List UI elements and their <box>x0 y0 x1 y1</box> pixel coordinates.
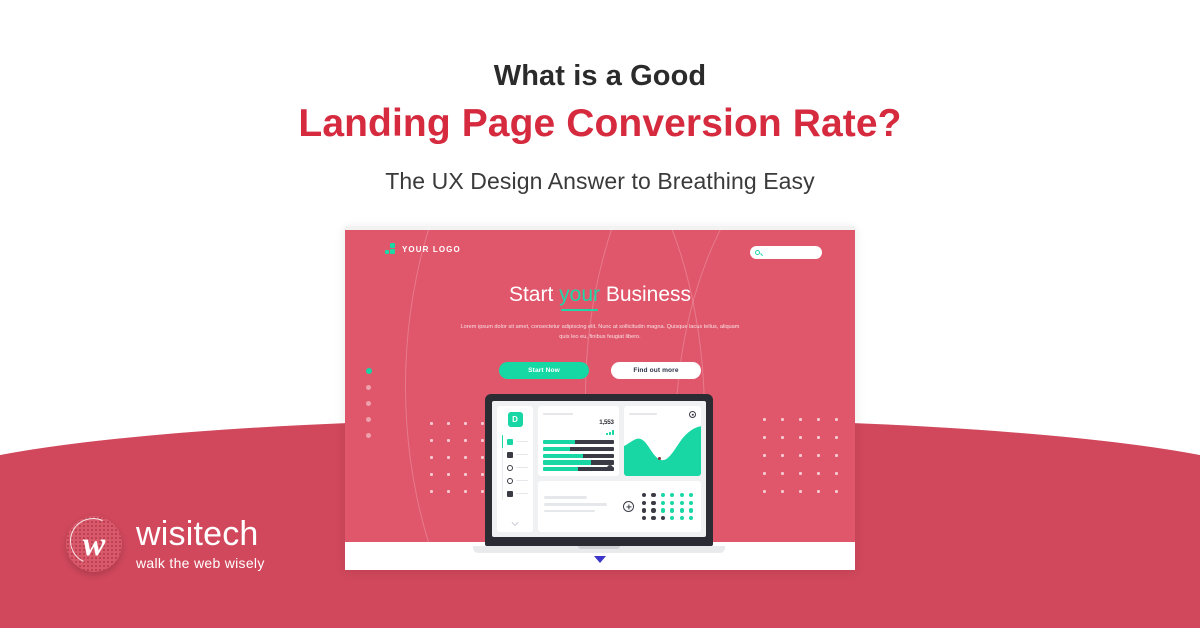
hero-title-post: Business <box>600 283 691 306</box>
mockup-pager-dots[interactable] <box>366 368 372 438</box>
gear-icon <box>507 478 513 484</box>
pager-dot-1[interactable] <box>366 368 372 374</box>
brand-logo[interactable]: w wisitech walk the web wisely <box>66 516 265 572</box>
find-out-more-button[interactable]: Find out more <box>611 362 701 379</box>
dashboard-menu-item-2[interactable] <box>504 448 528 461</box>
dot-icon[interactable] <box>607 465 613 471</box>
pager-dot-4[interactable] <box>366 417 371 422</box>
horizontal-bar-chart <box>543 440 614 471</box>
bar-row <box>543 460 614 464</box>
bar-row <box>543 467 614 471</box>
circle-icon <box>507 465 513 471</box>
mockup-cta-group: Start Now Find out more <box>345 362 855 379</box>
metric-value: 1,553 <box>599 419 613 426</box>
mockup-logo[interactable]: YOUR LOGO <box>385 243 461 255</box>
dashboard-menu-item-4[interactable] <box>504 474 528 487</box>
metric-block: 1,553 <box>599 411 613 435</box>
pager-dot-3[interactable] <box>366 401 371 406</box>
brand-mark-letter: w <box>83 528 106 562</box>
bar-up-icon <box>599 430 613 435</box>
laptop-mockup: D <box>485 394 713 546</box>
text-line-placeholder <box>544 510 595 512</box>
target-icon[interactable] <box>689 411 696 418</box>
metric-bars-card: 1,553 <box>538 406 619 476</box>
chevron-down-icon[interactable] <box>511 519 518 526</box>
text-line-placeholder <box>544 503 607 505</box>
plus-circle-icon[interactable] <box>623 501 634 512</box>
dashboard-logo: D <box>508 412 523 427</box>
bar-row <box>543 440 614 444</box>
dashboard-sidebar: D <box>497 406 533 532</box>
dot-matrix <box>642 493 695 520</box>
menu-label-placeholder <box>516 493 528 495</box>
mockup-hero-title: Start your Business <box>345 283 855 307</box>
hero-title-pre: Start <box>509 283 559 306</box>
headline-line-1: What is a Good <box>0 58 1200 95</box>
area-card-header <box>629 411 696 418</box>
dashboard-main: 1,553 <box>538 406 701 532</box>
brand-tagline: walk the web wisely <box>136 555 265 571</box>
dashboard-top-row: 1,553 <box>538 406 701 476</box>
metric-card-header: 1,553 <box>543 411 614 435</box>
dashboard-menu-item-5[interactable] <box>504 487 528 500</box>
text-line-placeholder <box>544 496 587 498</box>
briefcase-icon <box>507 452 513 458</box>
dot-matrix-card <box>538 481 701 532</box>
mockup-search-input[interactable] <box>750 246 822 259</box>
dashboard-menu-item-1[interactable] <box>504 435 528 448</box>
headline-line-2: Landing Page Conversion Rate? <box>0 99 1200 150</box>
hero-title-accent: your <box>559 283 600 306</box>
dashboard-menu-item-3[interactable] <box>504 461 528 474</box>
card-title-placeholder <box>543 413 573 415</box>
laptop-notch <box>578 546 620 549</box>
decorative-dot-grid-right <box>763 418 853 508</box>
wisitech-mark-icon: w <box>66 516 122 572</box>
menu-label-placeholder <box>516 467 528 469</box>
menu-label-placeholder <box>516 480 528 482</box>
dashboard-menu <box>502 435 528 500</box>
pager-dot-5[interactable] <box>366 433 371 438</box>
three-dots-mark-icon <box>385 243 397 255</box>
laptop-screen: D <box>492 401 706 537</box>
headline-subtitle: The UX Design Answer to Breathing Easy <box>0 167 1200 197</box>
bar-row <box>543 447 614 451</box>
menu-label-placeholder <box>516 441 528 443</box>
laptop-body: D <box>485 394 713 546</box>
banner-root: What is a Good Landing Page Conversion R… <box>0 0 1200 628</box>
chevron-down-icon[interactable] <box>594 556 606 563</box>
pager-dot-2[interactable] <box>366 385 371 390</box>
landing-page-mockup: YOUR LOGO Start your Business Lorem ipsu… <box>345 226 855 570</box>
area-chart-card <box>624 406 701 476</box>
mockup-logo-label: YOUR LOGO <box>402 245 461 254</box>
area-chart <box>624 424 701 476</box>
menu-label-placeholder <box>516 454 528 456</box>
grid-icon <box>507 439 513 445</box>
search-icon <box>755 250 760 255</box>
start-now-button[interactable]: Start Now <box>499 362 589 379</box>
brand-name: wisitech <box>136 517 265 553</box>
headline-block: What is a Good Landing Page Conversion R… <box>0 58 1200 197</box>
card-title-placeholder <box>629 413 657 415</box>
bulb-icon <box>507 491 513 497</box>
mockup-hero-paragraph: Lorem ipsum dolor sit amet, consectetur … <box>460 322 740 343</box>
bar-row <box>543 454 614 458</box>
dot-card-text-lines <box>544 496 615 517</box>
brand-text: wisitech walk the web wisely <box>136 517 265 571</box>
